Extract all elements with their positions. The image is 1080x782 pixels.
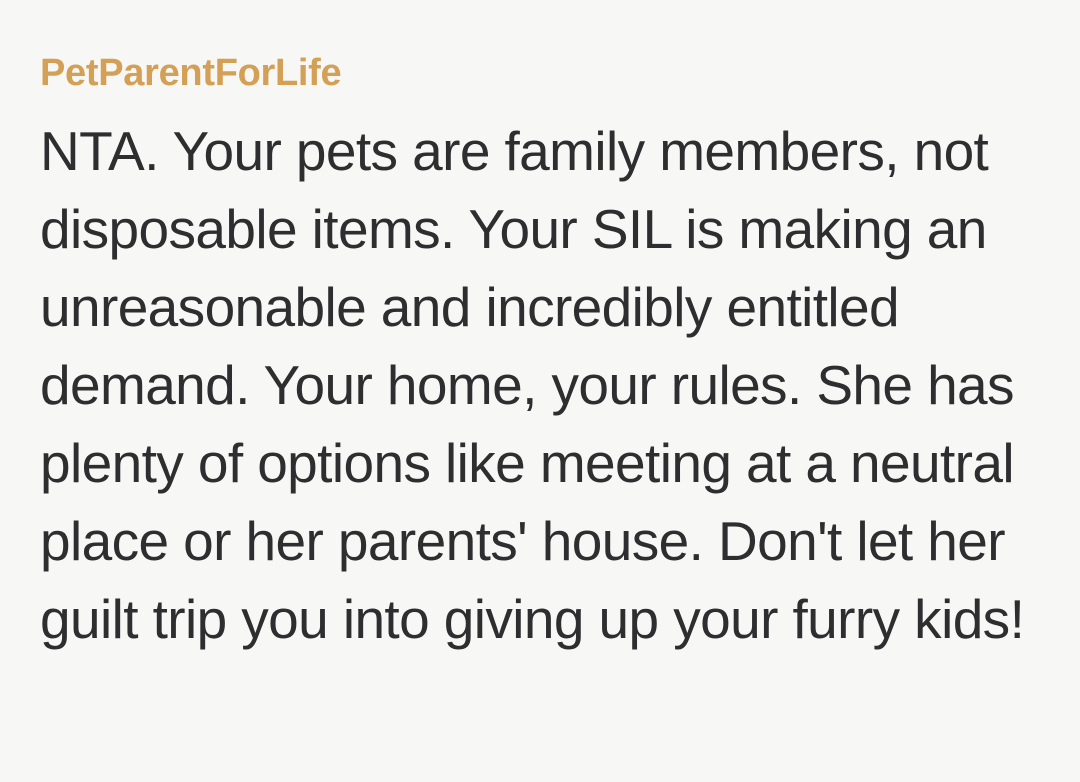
comment-author-username[interactable]: PetParentForLife (40, 48, 1040, 98)
comment-body-text: NTA. Your pets are family members, not d… (40, 112, 1050, 658)
comment-card: PetParentForLife NTA. Your pets are fami… (0, 0, 1080, 782)
